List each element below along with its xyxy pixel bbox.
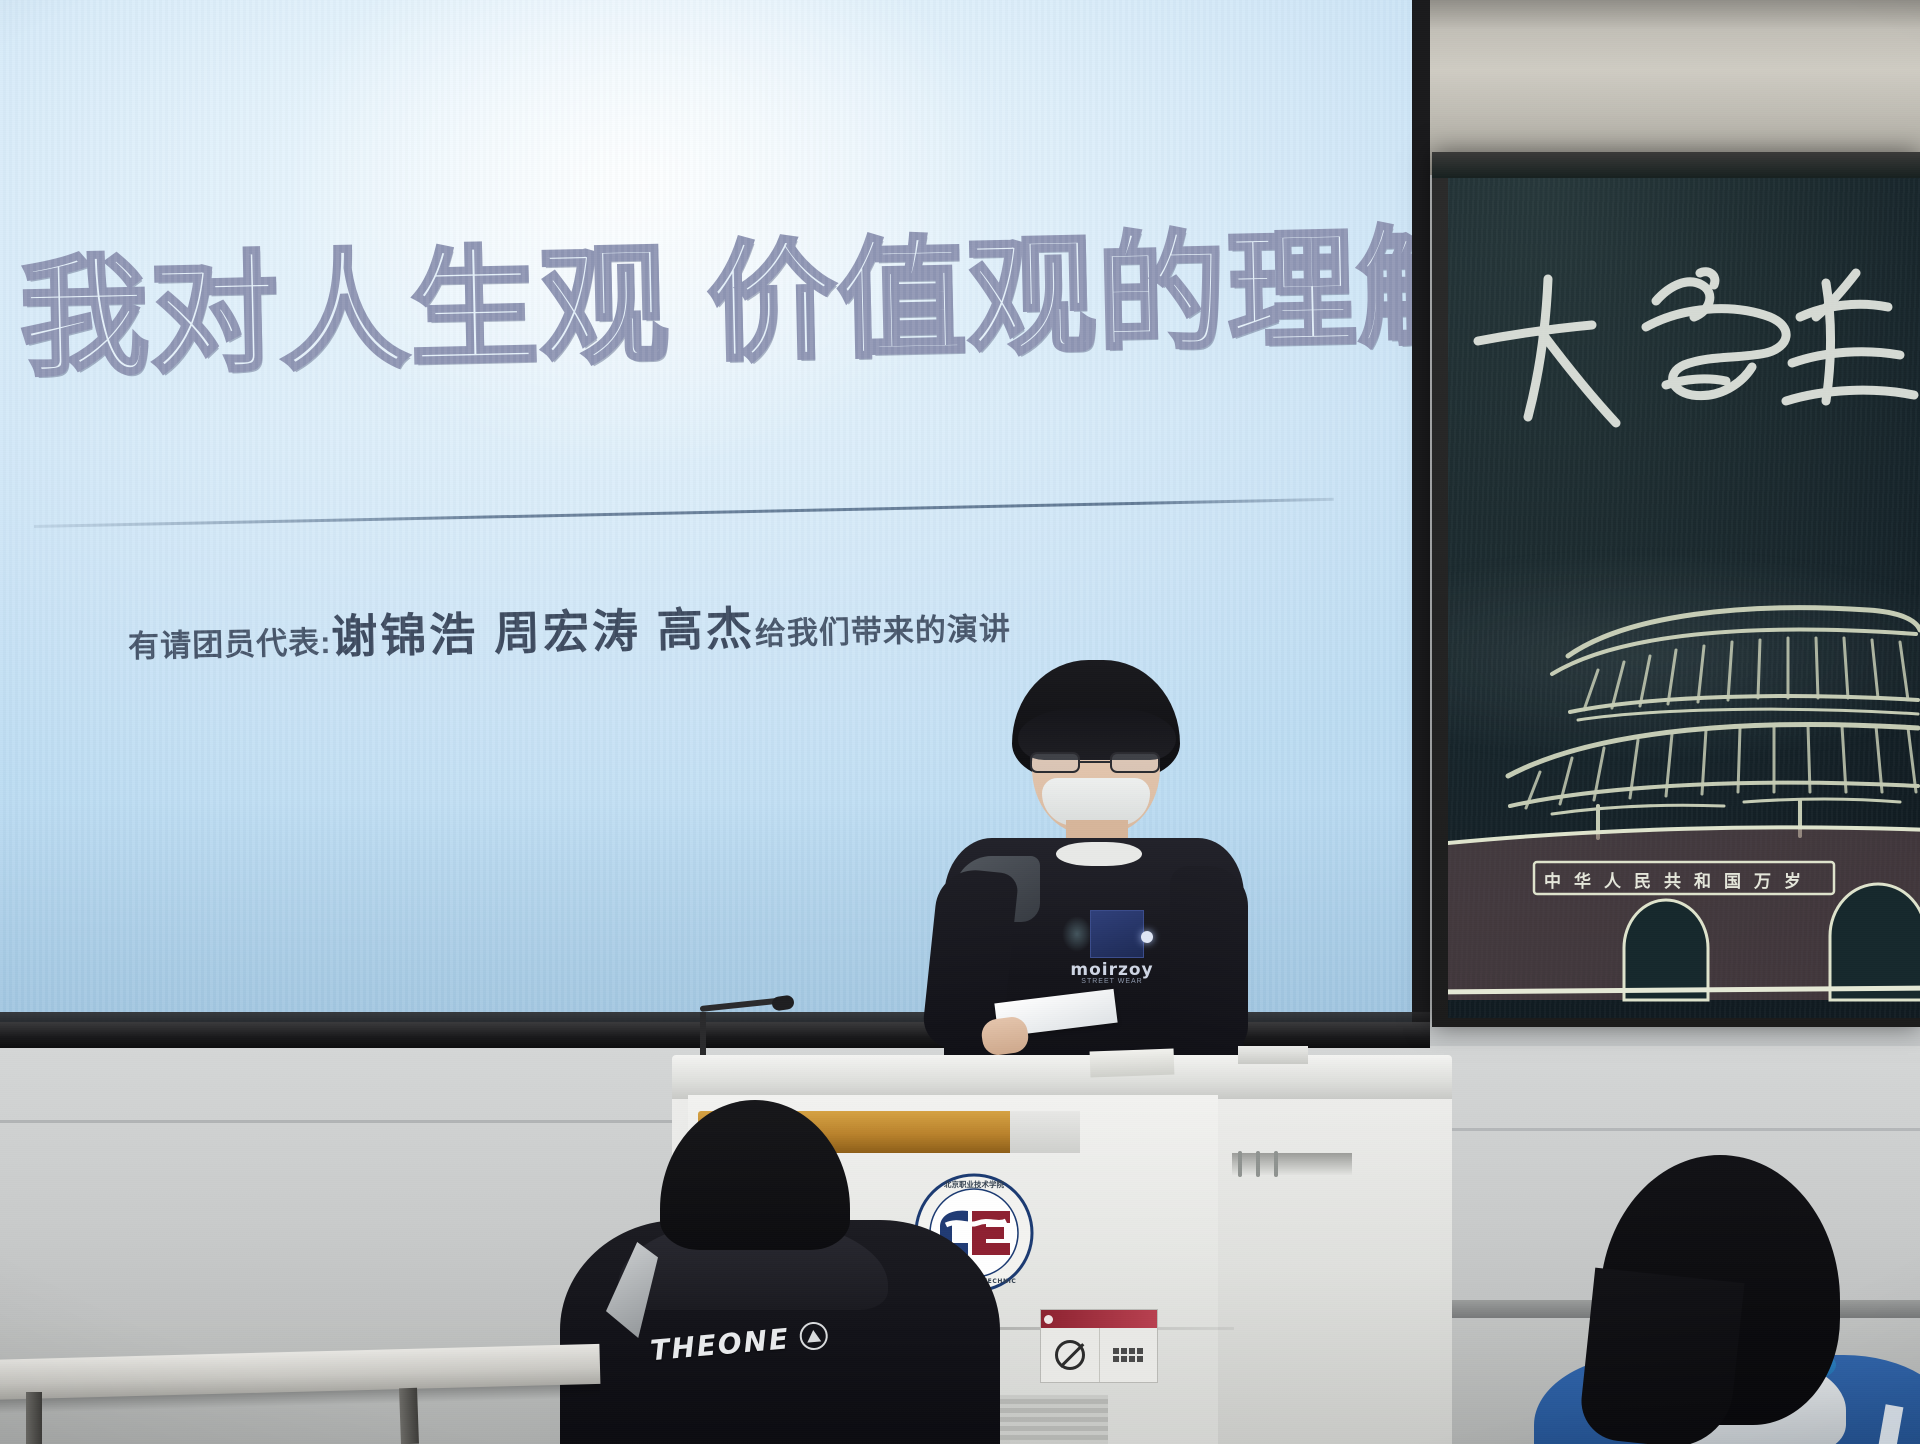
lectern-item-card [1238, 1046, 1308, 1064]
chalkboard-drawing-tiananmen: 中华人 民共和 国万岁 [1448, 600, 1920, 1020]
lectern-top-surface [672, 1055, 1452, 1099]
slide-subtitle-lead: 有请团员代表: [128, 625, 332, 664]
slide-title: 我对人生观 价值观的理解是? [18, 185, 1402, 400]
lectern-right-panel [1218, 1095, 1452, 1444]
sticker-icon-cell [1041, 1328, 1100, 1382]
sticker-body [1041, 1328, 1157, 1382]
lectern-slot [1238, 1151, 1242, 1177]
shirt-graphic-box [1090, 910, 1144, 958]
speaker-right-arm [1170, 866, 1248, 1056]
lectern-item-paper [1090, 1049, 1175, 1078]
shirt-graphic-dot [1141, 931, 1153, 943]
wall-seam-right [1440, 1128, 1920, 1131]
sticker-text-cell [1100, 1328, 1158, 1382]
sticker-header-bar [1041, 1310, 1157, 1328]
jacket-brand-mark-icon [799, 1321, 829, 1351]
microphone-stand [700, 1012, 706, 1058]
slide-divider-line [34, 498, 1334, 528]
slide-subtitle-names: 谢锦浩 周宏涛 高杰 [331, 602, 756, 662]
speaker-glasses [1030, 752, 1160, 774]
svg-text:民: 民 [1634, 872, 1651, 892]
front-right-student-hair-strand [1578, 1268, 1745, 1444]
svg-text:中: 中 [1544, 871, 1561, 892]
lectern-slot [1256, 1151, 1260, 1177]
svg-text:华: 华 [1574, 871, 1591, 892]
slide-subtitle: 有请团员代表:谢锦浩 周宏涛 高杰给我们带来的演讲 [127, 587, 1011, 671]
speaker-collar [1056, 842, 1142, 866]
svg-text:万: 万 [1753, 872, 1771, 892]
speaker-shirt-graphic: moirzoy STREET WEAR [1062, 910, 1158, 988]
lectern-trim-right [1010, 1111, 1080, 1153]
front-left-student: THEONE [560, 1100, 1020, 1444]
desk-leg [399, 1388, 419, 1444]
svg-text:人: 人 [1604, 872, 1622, 892]
svg-text:共: 共 [1664, 872, 1681, 892]
svg-text:国: 国 [1724, 872, 1741, 892]
safety-warning-sticker [1040, 1309, 1158, 1383]
shirt-graphic-smudge [1062, 916, 1092, 952]
blackboard-top-trim [1432, 152, 1920, 178]
speaker-person: moirzoy STREET WEAR [930, 660, 1260, 1080]
lectern-notch [1232, 1153, 1352, 1175]
front-left-student-hair [660, 1100, 850, 1250]
lectern-slot [1274, 1151, 1278, 1177]
shirt-brand-subtext: STREET WEAR [1066, 978, 1158, 985]
speaker-face-mask [1042, 778, 1150, 826]
no-smoking-icon [1055, 1340, 1085, 1370]
sticker-text-lines [1109, 1344, 1147, 1366]
warning-dot-icon [1044, 1315, 1053, 1324]
shirt-brand-text: moirzoy [1066, 960, 1158, 980]
svg-text:和: 和 [1694, 872, 1711, 892]
svg-text:岁: 岁 [1784, 871, 1801, 892]
chalkboard-heading [1470, 255, 1920, 435]
classroom-photo: 我对人生观 价值观的理解是? 有请团员代表:谢锦浩 周宏涛 高杰给我们带来的演讲 [0, 0, 1920, 1444]
slide-subtitle-tail: 给我们带来的演讲 [755, 611, 1012, 651]
desk-leg [26, 1392, 42, 1444]
front-right-student [1540, 1155, 1920, 1444]
